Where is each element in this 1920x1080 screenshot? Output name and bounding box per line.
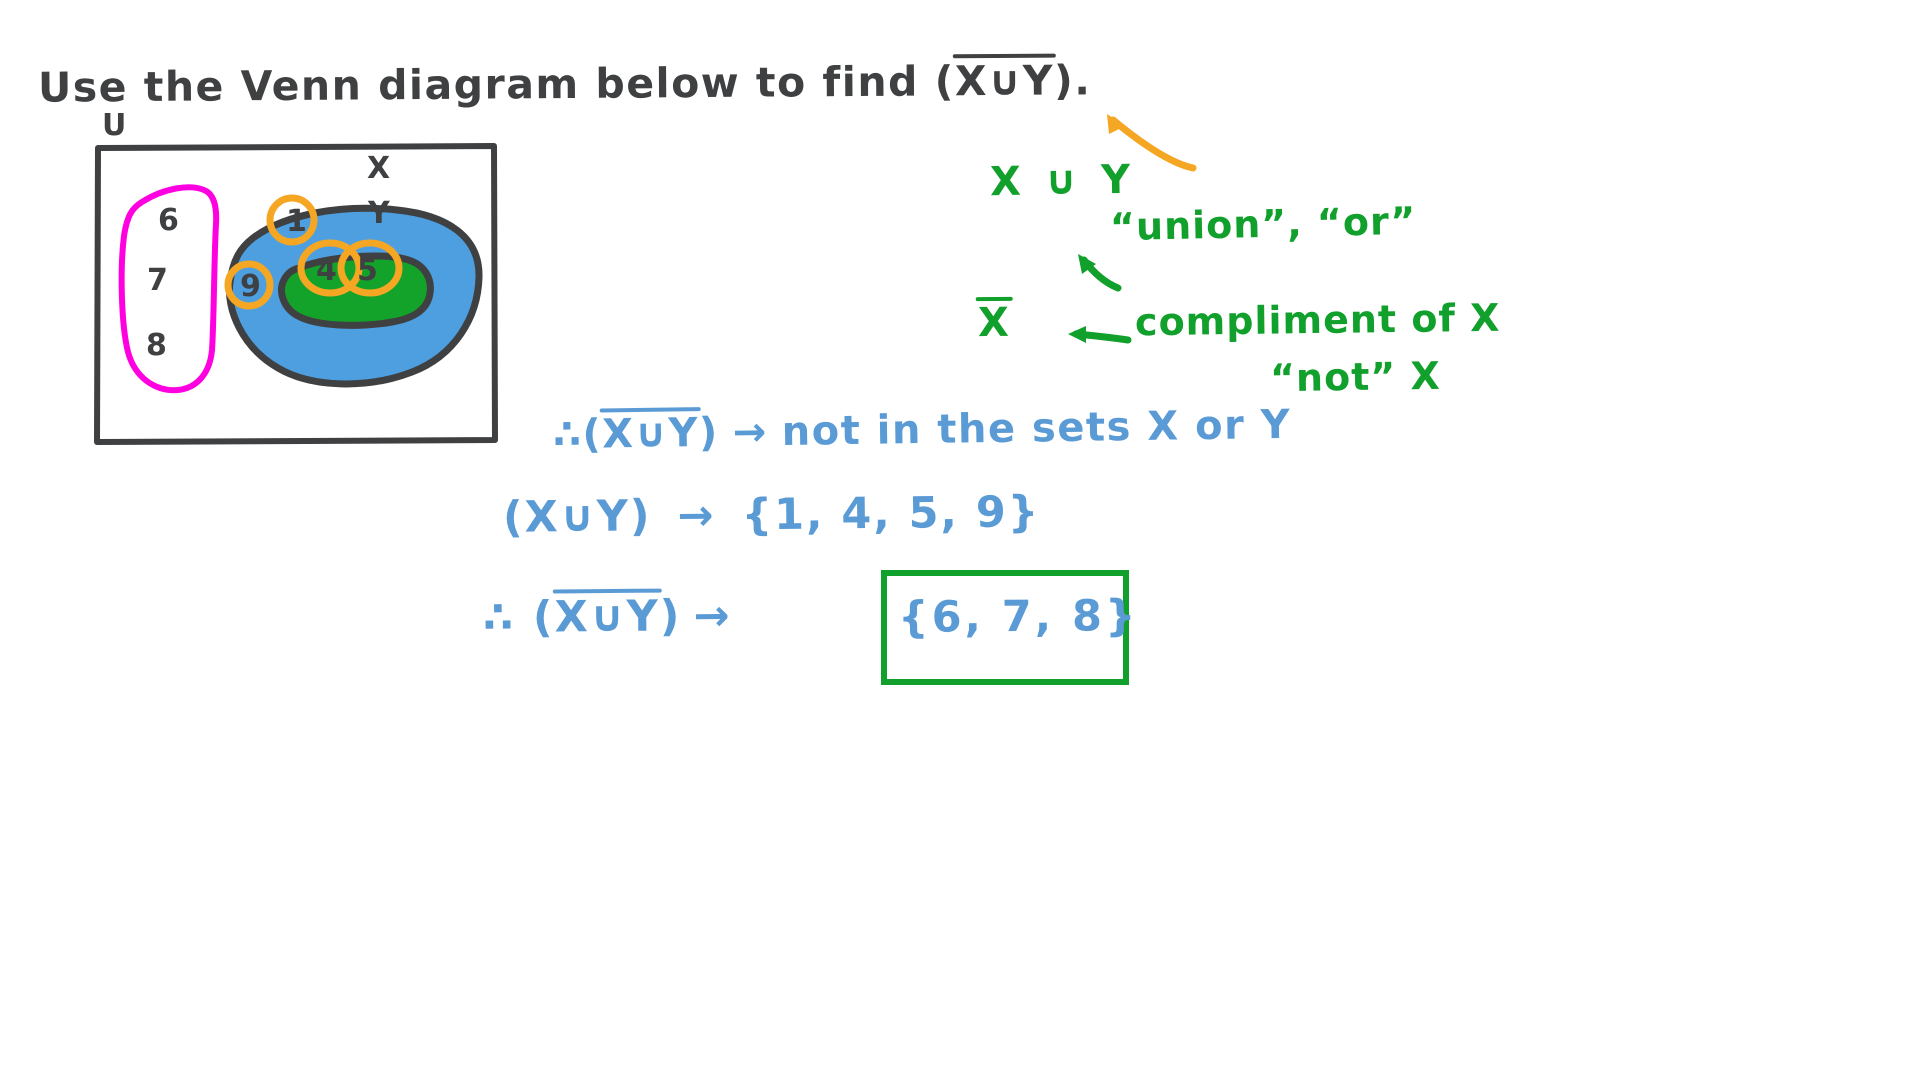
venn-diagram: U X Y 6 7 8 1 9 4 5 xyxy=(80,110,540,470)
element-9: 9 xyxy=(240,269,261,304)
title-overlined-expression: X∪Y xyxy=(955,55,1054,106)
line3-overlined-expression: X∪Y xyxy=(554,590,660,643)
line2-arrow-icon: → xyxy=(651,490,742,541)
note-complement-text: compliment of X xyxy=(1135,296,1501,344)
note-union-expression: X ∪ Y xyxy=(990,157,1136,206)
line2-expression: (X∪Y) xyxy=(503,491,652,543)
line2-set: {1, 4, 5, 9} xyxy=(741,487,1040,540)
line3-open-paren: ( xyxy=(515,593,555,643)
line3-close-paren: ) xyxy=(660,591,682,641)
note-complement-not: “not” X xyxy=(1270,354,1441,400)
element-4: 4 xyxy=(316,253,337,288)
element-5: 5 xyxy=(357,253,378,288)
final-answer-set: {6, 7, 8} xyxy=(898,591,1139,643)
element-7: 7 xyxy=(147,263,168,298)
title-prefix: Use the Venn diagram below to find ( xyxy=(38,57,955,111)
note-complement: X xyxy=(978,298,1011,346)
line1-close-paren: ) xyxy=(699,410,719,456)
set-y-label: Y xyxy=(367,196,391,231)
complement-arrow-icon xyxy=(1050,318,1140,358)
working-line-1: ∴(X∪Y)→not in the sets X or Y xyxy=(553,400,1292,458)
title-suffix: ). xyxy=(1054,56,1092,104)
line1-arrow-icon: → xyxy=(718,409,782,456)
line1-open-paren: ( xyxy=(582,411,602,457)
complement-symbol: X xyxy=(978,298,1011,346)
handwritten-worksheet: Use the Venn diagram below to find (X∪Y)… xyxy=(0,0,1920,1080)
therefore-symbol: ∴ xyxy=(553,412,583,458)
element-1: 1 xyxy=(286,204,307,239)
universe-label: U xyxy=(102,110,126,143)
line1-overlined-expression: X∪Y xyxy=(602,408,699,457)
element-8: 8 xyxy=(146,328,167,363)
line1-text: not in the sets X or Y xyxy=(781,402,1291,455)
union-meaning-arrow-icon xyxy=(1068,248,1128,296)
line3-arrow-icon: → xyxy=(681,591,743,642)
working-line-3: ∴(X∪Y)→ xyxy=(483,589,744,643)
element-6: 6 xyxy=(158,203,179,238)
set-x-label: X xyxy=(367,151,390,186)
note-union-meaning: “union”, “or” xyxy=(1110,199,1417,249)
working-line-2: (X∪Y)→{1, 4, 5, 9} xyxy=(503,487,1041,543)
line3-therefore-symbol: ∴ xyxy=(483,593,515,643)
page-title: Use the Venn diagram below to find (X∪Y)… xyxy=(38,54,1092,111)
